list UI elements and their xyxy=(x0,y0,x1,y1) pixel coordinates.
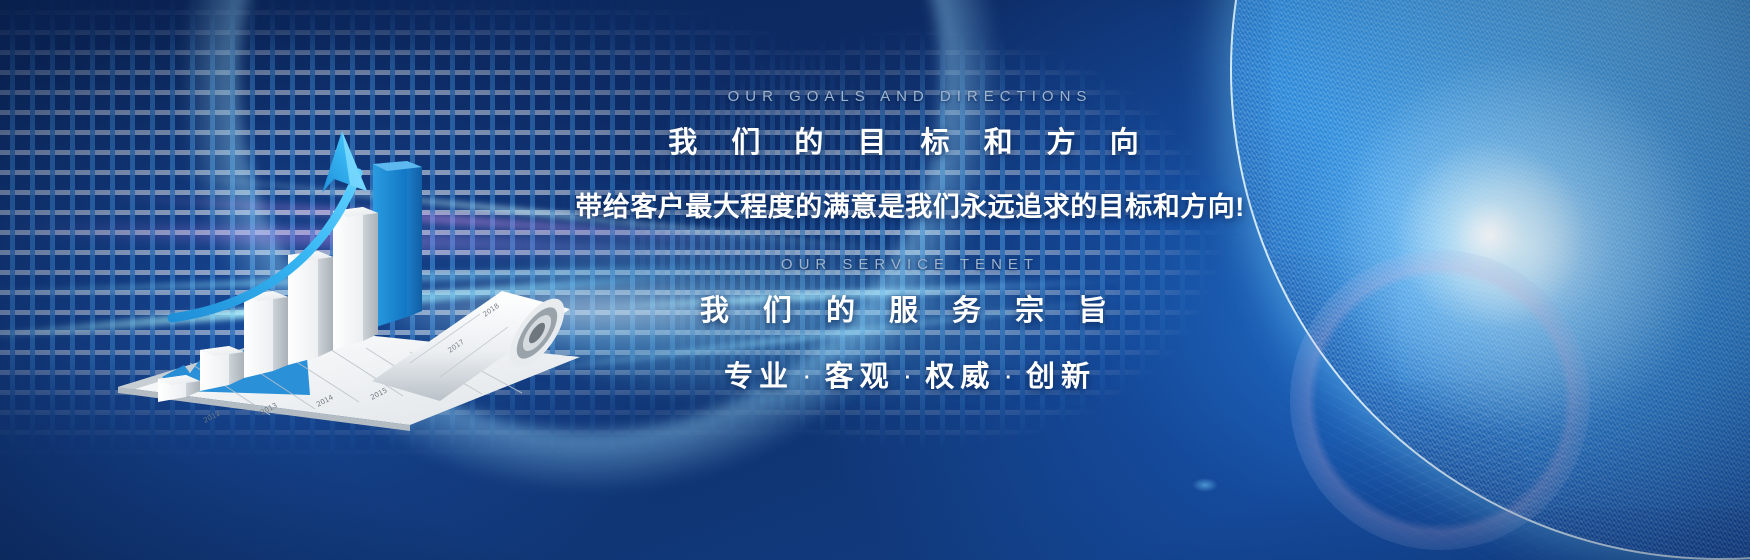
keyword-separator-2: · xyxy=(895,367,926,389)
tenet-keywords: 专业·客观·权威·创新 xyxy=(560,353,1260,395)
tenet-text-block: OUR SERVICE TENET 我 们 的 服 务 宗 旨 专业·客观·权威… xyxy=(560,256,1260,395)
bar-3 xyxy=(244,291,288,378)
goals-subtitle: 带给客户最大程度的满意是我们永远追求的目标和方向! xyxy=(560,185,1260,224)
goals-text-block: OUR GOALS AND DIRECTIONS 我 们 的 目 标 和 方 向… xyxy=(560,88,1260,224)
keyword-3: 权威 xyxy=(925,361,995,393)
keyword-separator-3: · xyxy=(995,367,1026,389)
bar-5 xyxy=(333,207,378,350)
tenet-eyebrow: OUR SERVICE TENET xyxy=(560,256,1260,273)
svg-text:2012: 2012 xyxy=(202,409,221,424)
tenet-heading: 我 们 的 服 务 宗 旨 xyxy=(560,287,1260,329)
bar-highlight xyxy=(373,161,422,328)
goals-heading: 我 们 的 目 标 和 方 向 xyxy=(560,119,1260,161)
keyword-2: 客观 xyxy=(825,361,895,393)
promo-banner: 2012 2013 2014 2015 2016 xyxy=(0,0,1750,560)
keyword-1: 专业 xyxy=(724,361,794,393)
goals-eyebrow: OUR GOALS AND DIRECTIONS xyxy=(560,88,1260,105)
keyword-separator-1: · xyxy=(794,367,825,389)
growth-chart-illustration: 2012 2013 2014 2015 2016 xyxy=(110,95,580,440)
keyword-4: 创新 xyxy=(1026,361,1096,393)
